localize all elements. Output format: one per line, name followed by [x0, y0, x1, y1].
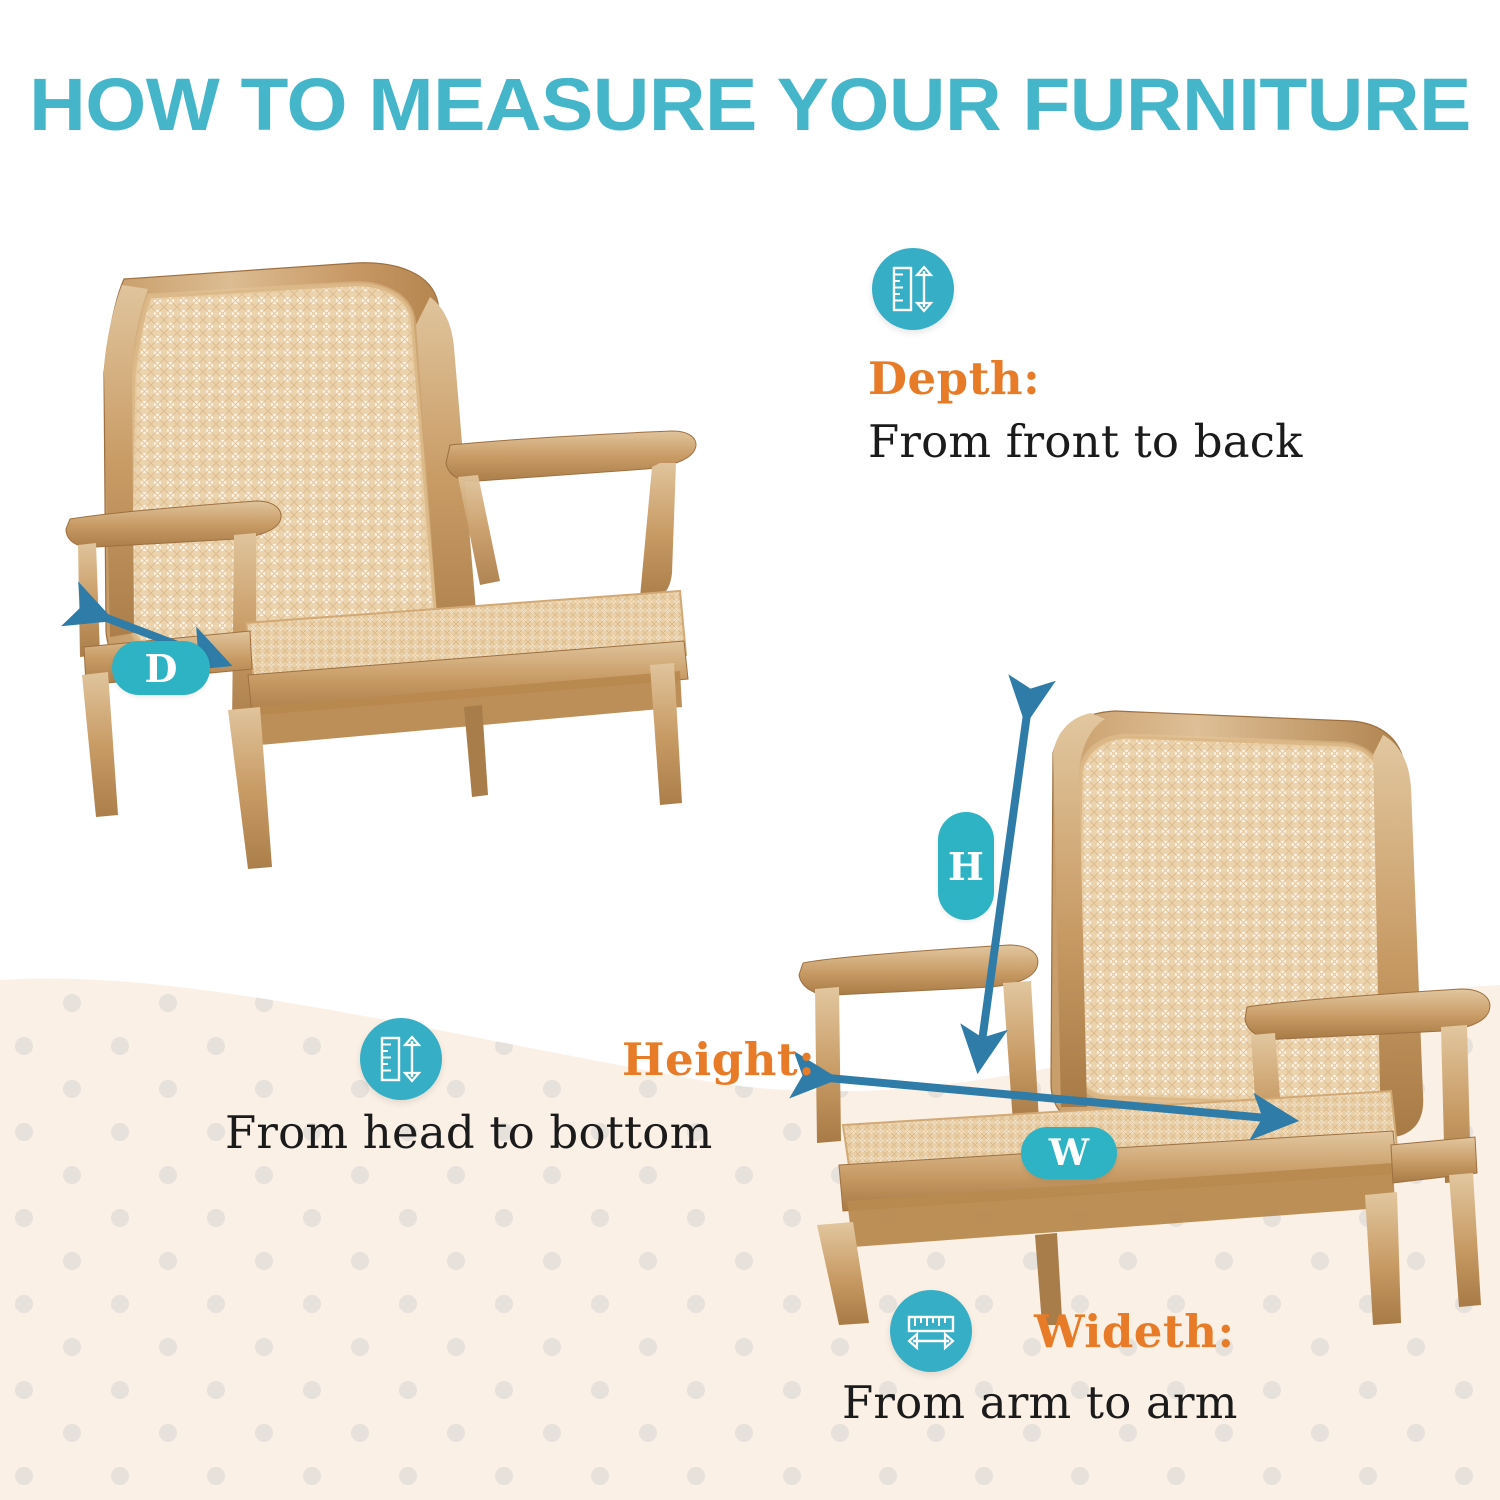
width-keyword: Wideth: — [1034, 1305, 1235, 1358]
measurement-arrows — [0, 0, 1500, 1500]
vertical-ruler-arrow-icon — [872, 248, 954, 330]
vertical-ruler-arrow-icon — [360, 1018, 442, 1100]
width-description: From arm to arm — [842, 1376, 1490, 1429]
depth-info-block: Depth: From front to back — [868, 248, 1303, 468]
height-badge: H — [938, 812, 994, 920]
vertical-ruler-arrow-glyph — [374, 1032, 428, 1086]
height-info-block: Height: From head to bottom — [360, 1018, 1060, 1159]
depth-keyword: Depth: — [868, 352, 1303, 405]
height-description: From head to bottom — [225, 1106, 1060, 1159]
horizontal-ruler-arrow-icon — [890, 1290, 972, 1372]
width-info-block: Wideth: From arm to arm — [890, 1290, 1490, 1429]
infographic-canvas: HOW TO MEASURE YOUR FURNITURE — [0, 0, 1500, 1500]
vertical-ruler-arrow-glyph — [886, 262, 940, 316]
height-keyword: Height: — [622, 1033, 815, 1086]
depth-badge: D — [112, 641, 210, 695]
depth-description: From front to back — [868, 415, 1303, 468]
horizontal-ruler-arrow-glyph — [904, 1304, 958, 1358]
